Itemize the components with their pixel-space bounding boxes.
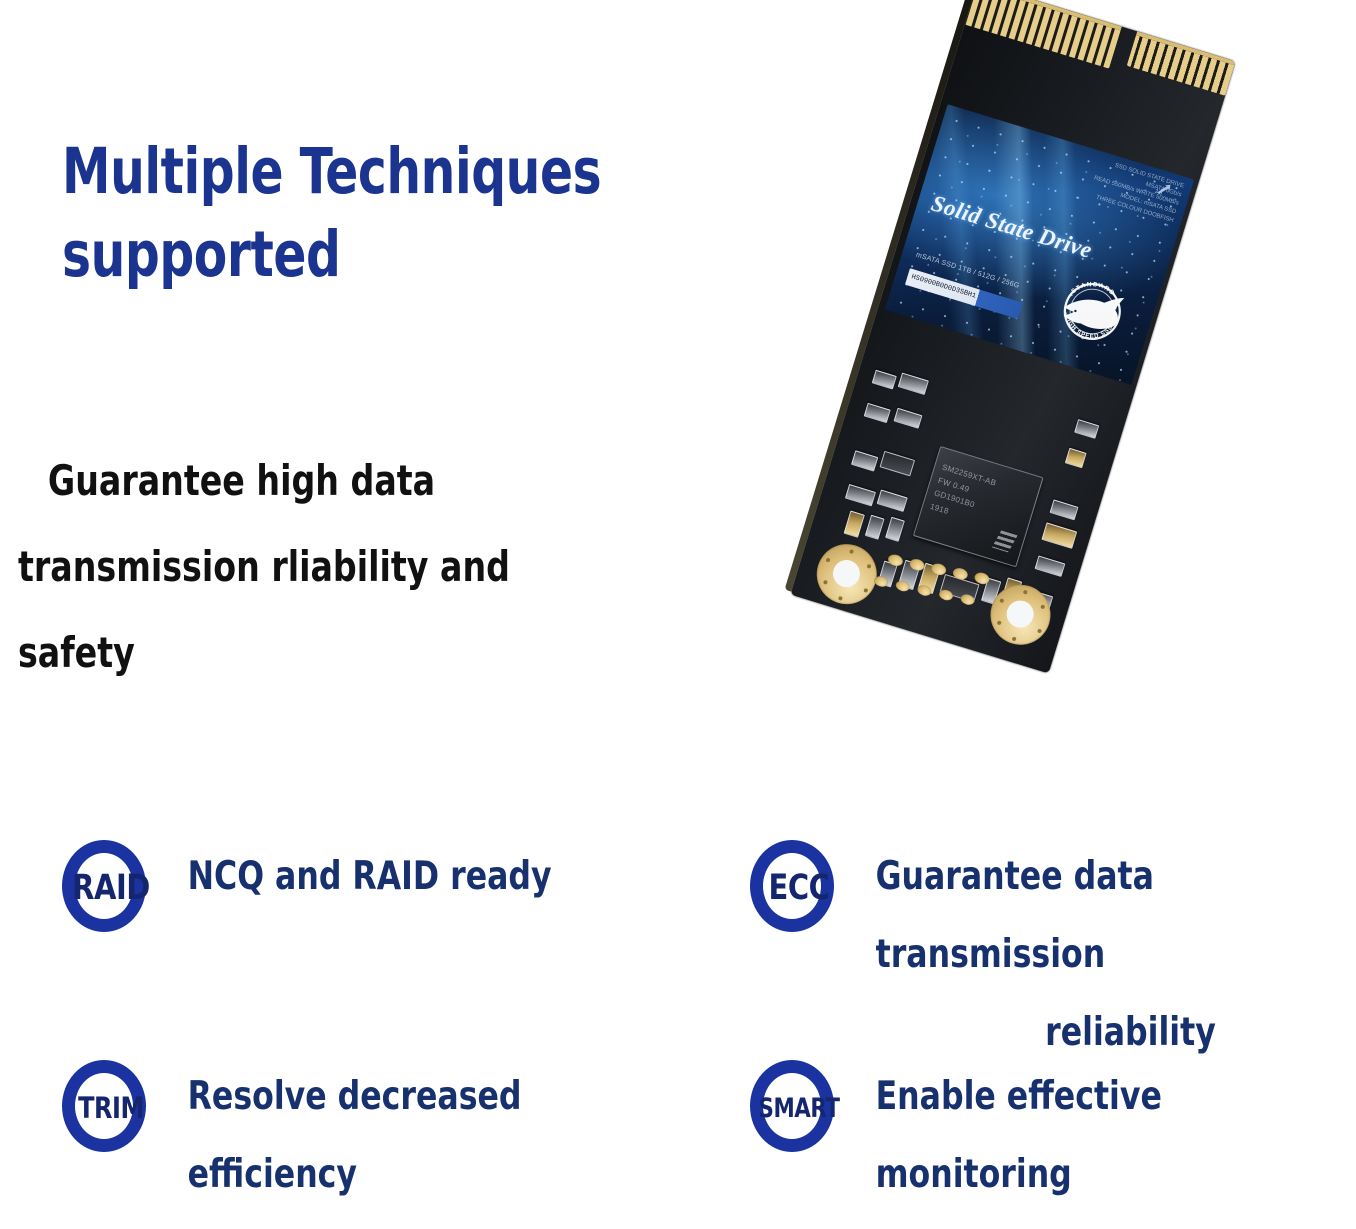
badge-label: ECC (748, 838, 849, 938)
raid-badge-icon: RAID (56, 838, 166, 938)
feature-item-smart: SMART Enable effective monitoring system… (744, 1056, 1356, 1229)
feature-caption: Guarantee data transmission reliability (854, 836, 1306, 1072)
smd-component (1074, 419, 1099, 439)
ssd-product-label: SSD SOLID STATE DRIVE MSATA 6Gb/s READ 5… (885, 104, 1195, 385)
page-title: Multiple Techniques supported (62, 130, 612, 296)
feature-caption-line-2: system to prevent data loss (876, 1214, 1306, 1229)
smd-component (877, 489, 908, 512)
chip-marking: SM2259XT-AB FW 0.49 GD1901B0 1918 (928, 461, 998, 529)
sub-statement-line-1: Guarantee high data (18, 438, 625, 524)
feature-caption-line-1: NCQ and RAID ready (188, 838, 661, 916)
feature-caption-line-1: Enable effective monitoring (876, 1058, 1306, 1214)
smd-component (1050, 499, 1079, 520)
feature-caption: NCQ and RAID ready (166, 836, 661, 916)
gold-edge-connector-icon (962, 0, 1236, 113)
smd-component (851, 450, 878, 471)
feature-caption: Enable effective monitoring system to pr… (854, 1056, 1306, 1229)
feature-item-trim: TRIM Resolve decreased efficiency issue (56, 1056, 736, 1229)
smd-component (864, 403, 891, 423)
feature-caption-line-2: issue (188, 1214, 679, 1229)
feature-caption-line-1: Guarantee data transmission (876, 838, 1306, 994)
feature-item-ecc: ECC Guarantee data transmission reliabil… (744, 836, 1356, 1072)
msata-ssd-photo: SM2259XT-AB FW 0.49 GD1901B0 1918 (800, 0, 1356, 710)
infographic-page: Multiple Techniques supported Guarantee … (0, 0, 1356, 1229)
smd-component (872, 370, 897, 390)
smd-component (880, 451, 916, 477)
smd-component (844, 510, 865, 537)
pcb-substrate: SM2259XT-AB FW 0.49 GD1901B0 1918 (790, 0, 1235, 673)
sub-statement: Guarantee high data transmission rliabil… (18, 438, 625, 696)
badge-label: RAID (60, 838, 161, 938)
badge-label: TRIM (60, 1058, 161, 1158)
badge-label: SMART (751, 1058, 848, 1158)
smd-component (845, 484, 876, 507)
smd-component (865, 515, 885, 540)
feature-caption-line-1: Resolve decreased efficiency (188, 1058, 679, 1214)
smd-component (885, 517, 905, 542)
smd-component (1065, 448, 1087, 469)
sub-statement-line-2: transmission rliability and safety (18, 524, 625, 696)
trim-badge-icon: TRIM (56, 1058, 166, 1158)
controller-chip: SM2259XT-AB FW 0.49 GD1901B0 1918 (913, 446, 1044, 567)
feature-item-raid: RAID NCQ and RAID ready (56, 836, 716, 938)
smd-component (894, 408, 923, 429)
smd-component (1041, 522, 1077, 549)
smd-component (1035, 555, 1066, 577)
ecc-badge-icon: ECC (744, 838, 854, 938)
feature-list: RAID NCQ and RAID ready ECC Guarantee da… (0, 828, 1356, 1228)
mounting-hole-pad (809, 537, 884, 612)
smd-component (898, 373, 929, 396)
chip-vendor-logo-icon (992, 530, 1018, 552)
smart-badge-icon: SMART (744, 1058, 854, 1158)
feature-caption: Resolve decreased efficiency issue (166, 1056, 679, 1229)
ssd-board: SM2259XT-AB FW 0.49 GD1901B0 1918 (790, 0, 1235, 673)
